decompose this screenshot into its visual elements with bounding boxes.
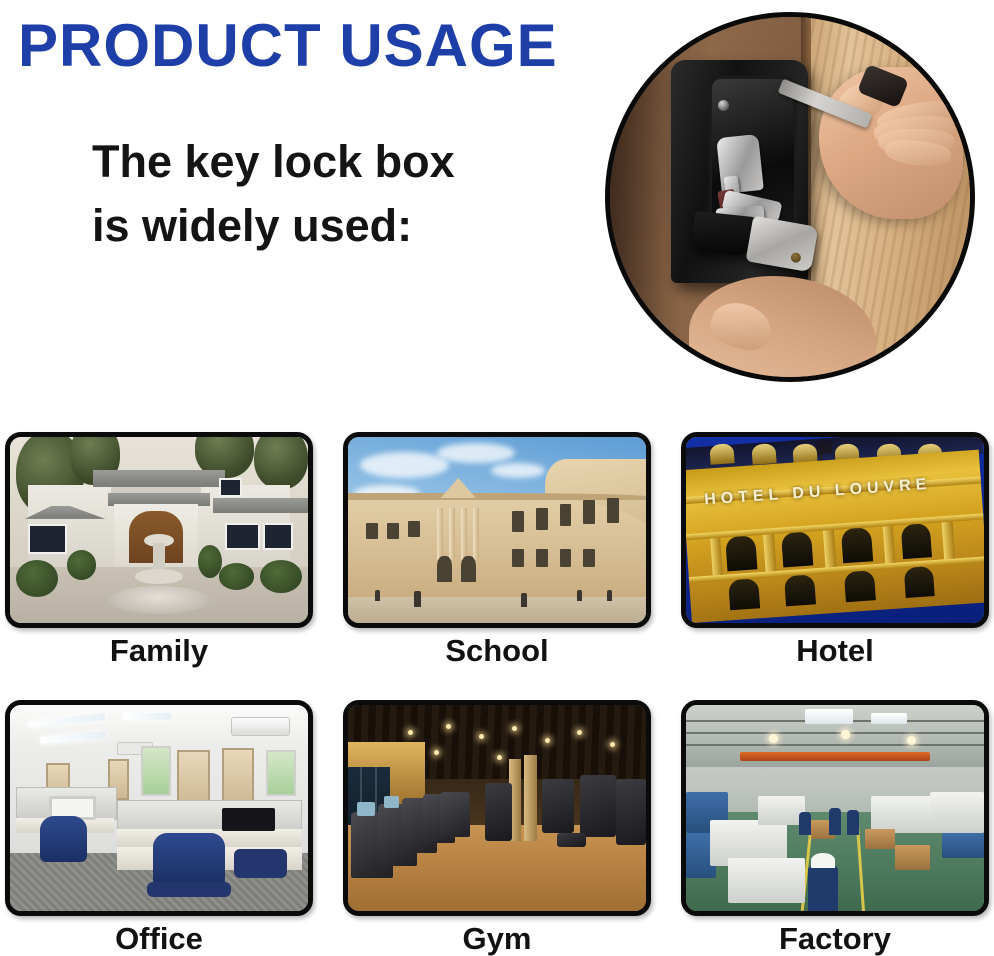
column (449, 508, 454, 560)
lockbox-screw (718, 100, 729, 111)
weight-machine (616, 779, 646, 845)
window (784, 575, 816, 608)
overhead-crane (740, 752, 931, 760)
window (841, 528, 873, 564)
high-bay-lamp (907, 736, 916, 745)
lockbox-latch (746, 215, 819, 272)
window (512, 511, 524, 531)
window (225, 523, 261, 551)
office-photo (5, 700, 313, 916)
cloud (437, 443, 514, 463)
caption-family: Family (5, 634, 313, 668)
ceiling-light (123, 713, 171, 719)
window (583, 549, 595, 568)
laptop (222, 808, 276, 831)
window (263, 523, 293, 551)
cornice-band (686, 514, 983, 541)
window (536, 508, 548, 530)
subtitle-line-1: The key lock box (92, 130, 562, 194)
usage-row-1: Family (5, 432, 991, 668)
window (583, 500, 595, 524)
usage-grid: Family (5, 432, 991, 956)
cornice (348, 493, 646, 500)
window (560, 549, 572, 568)
university-photo (343, 432, 651, 628)
window (728, 579, 760, 612)
machine (728, 858, 805, 903)
dormer (751, 444, 776, 466)
treadmill-console (384, 796, 399, 808)
window (387, 523, 399, 540)
treadmill (440, 792, 470, 837)
subtitle: The key lock box is widely used: (92, 130, 562, 258)
window (536, 549, 548, 568)
crate (865, 829, 895, 850)
worker (829, 808, 841, 835)
pillar (524, 755, 537, 842)
usage-cell-office: Office (5, 700, 313, 956)
chair-back (234, 849, 288, 878)
column (461, 508, 466, 560)
pilaster (942, 522, 955, 559)
building-facade (348, 493, 646, 601)
pedestrian (521, 593, 527, 607)
roof-truss (686, 744, 984, 746)
skylight (805, 709, 853, 723)
crate (895, 845, 931, 870)
window (903, 566, 935, 599)
machine (758, 796, 806, 825)
page-title: PRODUCT USAGE (18, 16, 558, 76)
window (781, 532, 813, 568)
chair-seat (147, 882, 230, 896)
column (473, 508, 478, 560)
safety-helmet (811, 853, 835, 867)
cloud (360, 452, 449, 478)
office-chair (40, 816, 88, 861)
shrub (16, 560, 58, 597)
roof (93, 470, 224, 487)
ceiling-spotlight (497, 755, 502, 760)
window (560, 504, 572, 526)
office-scene (10, 705, 308, 911)
house-photo (5, 432, 313, 628)
arched-doorway (461, 556, 476, 582)
window (408, 521, 420, 538)
weight-machine (485, 783, 512, 841)
usage-cell-gym: Gym (343, 700, 651, 956)
usage-row-2: Office (5, 700, 991, 956)
shrub (198, 545, 222, 578)
usage-cell-family: Family (5, 432, 313, 668)
machine (930, 792, 984, 833)
window (725, 536, 757, 572)
shrub (260, 560, 302, 593)
window (366, 523, 378, 540)
gym-photo (343, 700, 651, 916)
weight-machine (542, 779, 575, 833)
caption-hotel: Hotel (681, 634, 989, 668)
stored-key-head (716, 134, 764, 194)
pedestrian (607, 590, 612, 601)
window (219, 478, 243, 497)
cabinet-door (222, 748, 255, 806)
pilaster (710, 538, 723, 575)
window (266, 750, 296, 795)
dormer (709, 444, 734, 466)
ceiling-spotlight (408, 730, 413, 735)
roof-truss (686, 732, 984, 734)
worker-foreground (808, 866, 838, 911)
caption-factory: Factory (681, 922, 989, 956)
subtitle-line-2: is widely used: (92, 194, 562, 258)
worker (799, 812, 811, 835)
bench (557, 833, 587, 847)
pilaster (823, 531, 836, 568)
ceiling-spotlight (446, 724, 451, 729)
office-chair (153, 833, 225, 887)
key-lockbox-photo (605, 12, 975, 382)
fountain-bowl (135, 569, 183, 584)
window (512, 549, 524, 568)
window (28, 524, 67, 554)
factory-scene (686, 705, 984, 911)
hero-scene (610, 17, 970, 377)
factory-photo (681, 700, 989, 916)
caption-school: School (343, 634, 651, 668)
machine (871, 796, 937, 833)
pilaster (882, 526, 895, 563)
high-bay-lamp (841, 730, 850, 739)
window (900, 524, 932, 560)
window (844, 571, 876, 604)
pilaster (763, 535, 776, 572)
plaza (348, 597, 646, 623)
hotel-photo: HOTEL DU LOUVRE (681, 432, 989, 628)
cloud (491, 463, 545, 478)
machine (942, 833, 984, 858)
family-scene (10, 437, 308, 623)
usage-cell-factory: Factory (681, 700, 989, 956)
shrub (219, 563, 255, 589)
worker (847, 810, 859, 835)
column (437, 508, 442, 560)
ceiling-spotlight (545, 738, 550, 743)
usage-cell-school: School (343, 432, 651, 668)
hotel-scene: HOTEL DU LOUVRE (686, 437, 984, 623)
fountain-basin (108, 586, 209, 614)
weight-machine (580, 775, 616, 837)
ceiling-spotlight (512, 726, 517, 731)
gym-scene (348, 705, 646, 911)
treadmill-console (357, 802, 375, 816)
air-conditioner (231, 717, 291, 736)
pedestrian (414, 591, 421, 607)
tree (254, 437, 308, 489)
skylight (871, 713, 907, 723)
pedestrian (375, 590, 380, 601)
caption-gym: Gym (343, 922, 651, 956)
arched-doorway (437, 556, 452, 582)
window (607, 498, 619, 522)
pedestrian (577, 590, 582, 601)
roof (213, 498, 308, 513)
window (141, 746, 171, 795)
usage-cell-hotel: HOTEL DU LOUVRE Hotel (681, 432, 989, 668)
caption-office: Office (5, 922, 313, 956)
school-scene (348, 437, 646, 623)
